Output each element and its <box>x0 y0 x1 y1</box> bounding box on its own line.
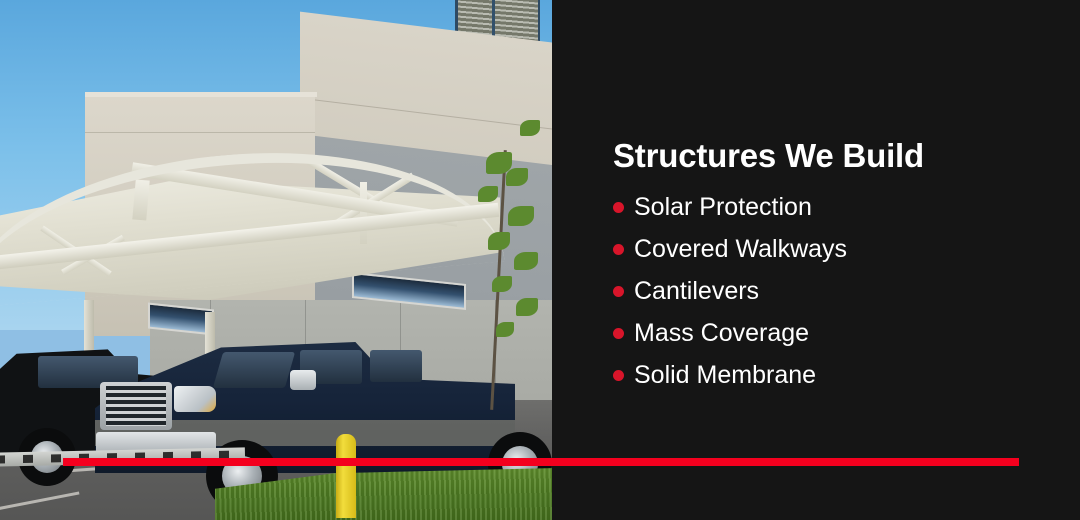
tree-foliage <box>478 186 498 202</box>
content-panel: Structures We Build Solar Protection Cov… <box>552 0 1080 520</box>
list-item-label: Mass Coverage <box>634 319 809 347</box>
structures-list: Solar Protection Covered Walkways Cantil… <box>613 186 1053 396</box>
list-item-label: Covered Walkways <box>634 235 847 263</box>
tree-foliage <box>514 252 538 270</box>
tree-foliage <box>520 120 540 136</box>
list-item: Solid Membrane <box>613 354 1053 396</box>
list-item: Mass Coverage <box>613 312 1053 354</box>
panel-content: Structures We Build Solar Protection Cov… <box>613 136 1053 396</box>
tree-foliage <box>508 206 534 226</box>
list-item: Covered Walkways <box>613 228 1053 270</box>
blue-truck-windshield <box>213 352 295 388</box>
carport-canopy-photo <box>0 0 552 520</box>
red-accent-bar <box>63 458 1019 466</box>
tree-foliage <box>496 322 514 337</box>
promo-banner: Structures We Build Solar Protection Cov… <box>0 0 1080 520</box>
truck-grille <box>100 382 172 430</box>
tree-foliage <box>488 232 510 250</box>
tree-foliage <box>506 168 528 186</box>
blue-truck-rear-window <box>370 350 422 382</box>
list-item: Cantilevers <box>613 270 1053 312</box>
tree-foliage <box>516 298 538 316</box>
page-title: Structures We Build <box>613 136 1053 176</box>
list-item-label: Solar Protection <box>634 193 812 221</box>
bullet-dot-icon <box>613 244 624 255</box>
truck-side-mirror <box>290 370 316 390</box>
list-item-label: Cantilevers <box>634 277 759 305</box>
parapet-cap <box>85 92 317 97</box>
tree-foliage <box>492 276 512 292</box>
bullet-dot-icon <box>613 202 624 213</box>
list-item: Solar Protection <box>613 186 1053 228</box>
bullet-dot-icon <box>613 328 624 339</box>
bullet-dot-icon <box>613 286 624 297</box>
truck-headlight <box>174 386 216 412</box>
yellow-bollard <box>336 434 356 518</box>
list-item-label: Solid Membrane <box>634 361 816 389</box>
bullet-dot-icon <box>613 370 624 381</box>
